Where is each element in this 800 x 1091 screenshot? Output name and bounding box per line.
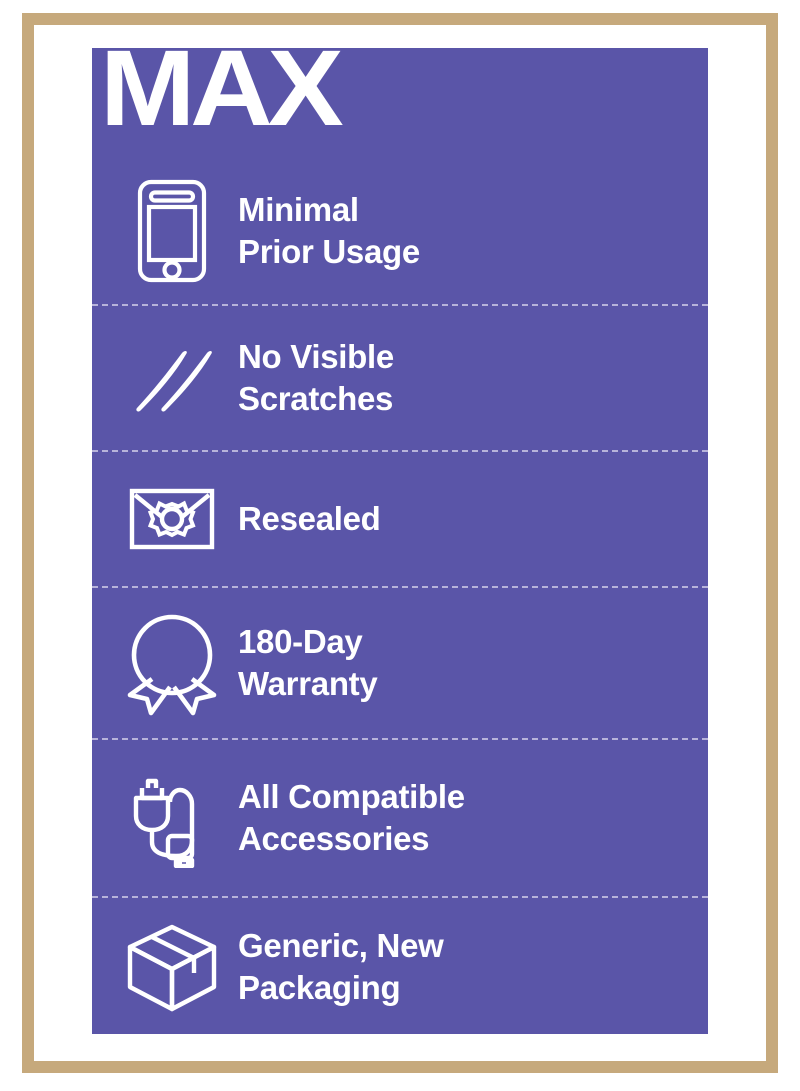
shipping-box-icon: [106, 921, 238, 1013]
feature-row-generic-new-packaging: Generic, New Packaging: [92, 896, 708, 1034]
brand-wordmark: MAX: [100, 48, 339, 142]
smartphone-icon: [106, 178, 238, 284]
purple-feature-panel: MAX Minimal Prior Usage: [92, 48, 708, 1034]
feature-list: Minimal Prior Usage No Visible Scratches: [92, 158, 708, 1034]
poster-root: MAX Minimal Prior Usage: [0, 0, 800, 1091]
feature-label: Resealed: [238, 498, 381, 540]
feature-row-180-day-warranty: 180-Day Warranty: [92, 586, 708, 738]
feature-label: Minimal Prior Usage: [238, 189, 420, 272]
feature-row-no-visible-scratches: No Visible Scratches: [92, 304, 708, 450]
sealed-envelope-icon: [106, 487, 238, 551]
award-ribbon-icon: [106, 609, 238, 717]
feature-label: All Compatible Accessories: [238, 776, 465, 859]
feature-row-minimal-prior-usage: Minimal Prior Usage: [92, 158, 708, 304]
feature-label: Generic, New Packaging: [238, 925, 444, 1008]
feature-label: 180-Day Warranty: [238, 621, 377, 704]
usb-cable-icon: [106, 768, 238, 868]
scratches-icon: [106, 342, 238, 414]
feature-row-all-compatible-accessories: All Compatible Accessories: [92, 738, 708, 896]
feature-label: No Visible Scratches: [238, 336, 394, 419]
feature-row-resealed: Resealed: [92, 450, 708, 586]
